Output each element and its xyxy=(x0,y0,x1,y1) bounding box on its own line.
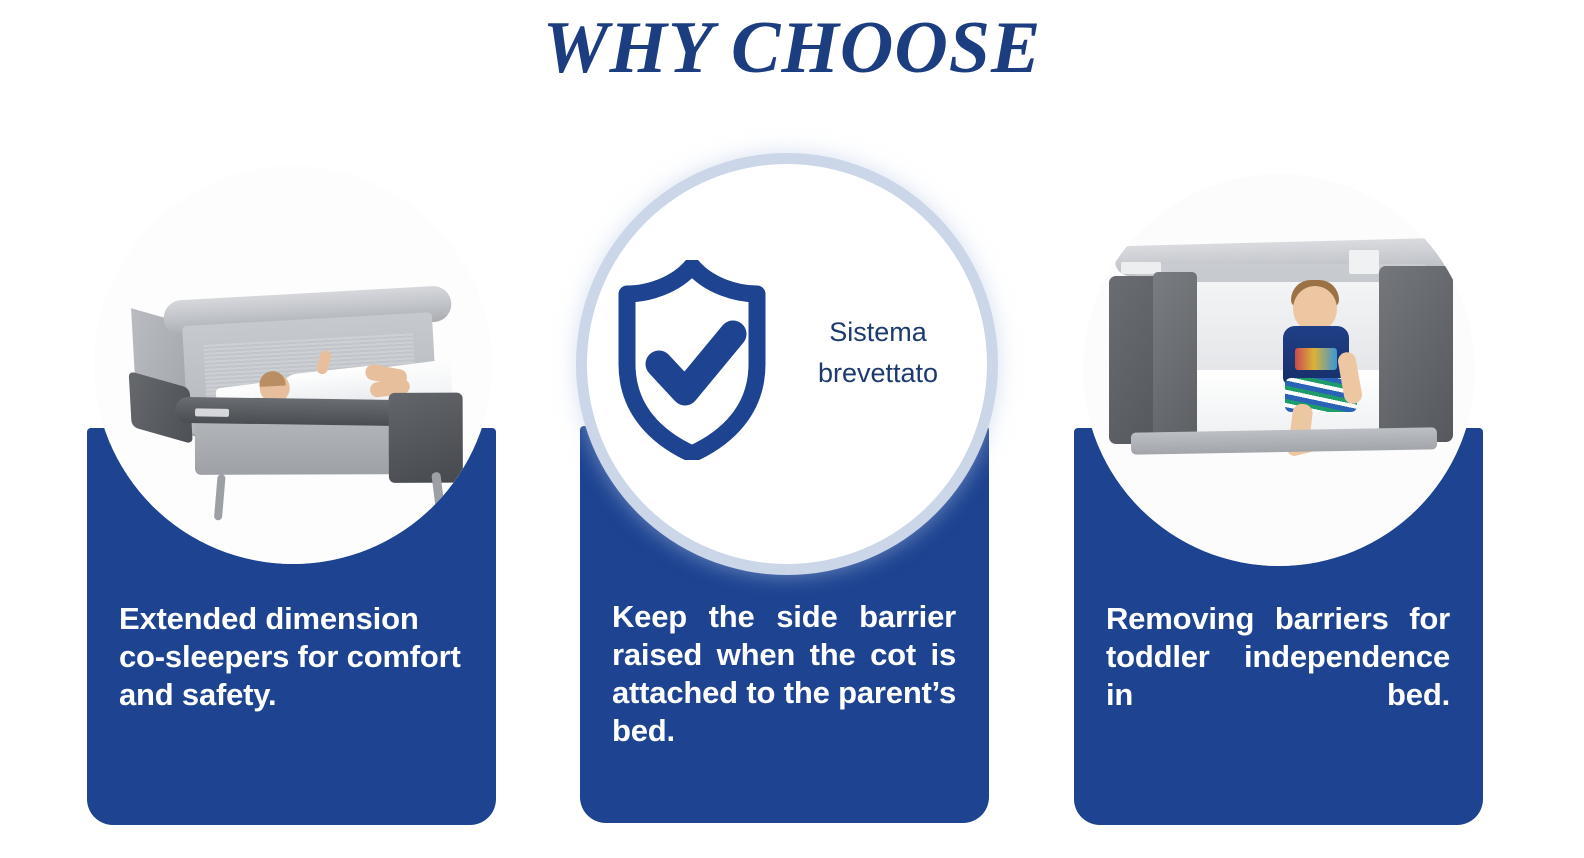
feature-card-2: Sistema brevettato Keep the side barrier… xyxy=(579,150,989,826)
feature-card-1: Extended dimension co-sleepers for comfo… xyxy=(86,150,496,826)
feature-cards-row: Extended dimension co-sleepers for comfo… xyxy=(0,0,1584,858)
badge-label-line-2: brevettato xyxy=(783,353,973,394)
badge-label-line-1: Sistema xyxy=(783,312,973,353)
card-caption-3: Removing barriers for toddler independen… xyxy=(1106,600,1450,752)
badge-label: Sistema brevettato xyxy=(783,312,973,394)
card-caption-2: Keep the side barrier raised when the co… xyxy=(612,598,956,788)
card-media-circle-3 xyxy=(1083,174,1475,566)
card-caption-1: Extended dimension co-sleepers for comfo… xyxy=(119,600,463,714)
card-media-circle-1 xyxy=(94,166,492,564)
card-media-circle-2: Sistema brevettato xyxy=(587,164,987,564)
toddler-in-cot-photo xyxy=(1083,174,1475,566)
shield-check-icon xyxy=(617,260,767,460)
baby-in-co-sleeper-photo xyxy=(94,166,492,564)
feature-card-3: Removing barriers for toddler independen… xyxy=(1073,150,1483,826)
